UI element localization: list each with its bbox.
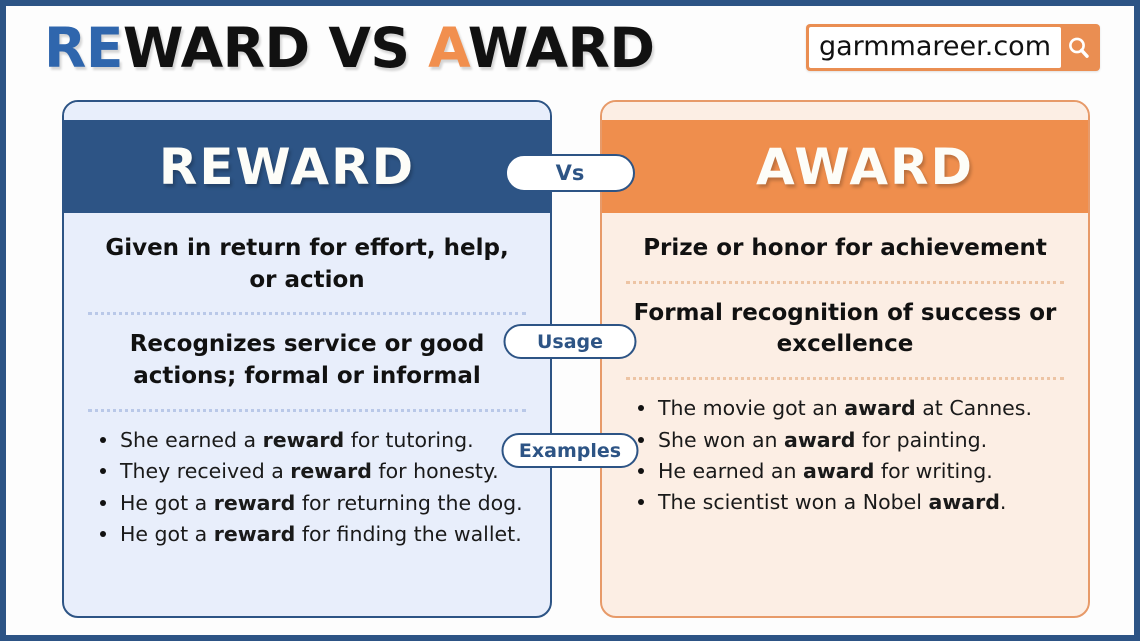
example-text-after: .	[1000, 490, 1007, 514]
page-title: REWARD VS AWARD	[44, 16, 655, 80]
list-item: The movie got an award at Cannes.	[636, 394, 1066, 423]
list-item: He got a reward for returning the dog.	[98, 489, 528, 518]
list-item: He earned an award for writing.	[636, 457, 1066, 486]
card-award-definition: Prize or honor for achievement	[620, 213, 1070, 281]
example-keyword: reward	[214, 522, 296, 546]
card-reward-header: REWARD	[64, 120, 550, 213]
card-reward-examples: She earned a reward for tutoring. They r…	[82, 412, 532, 549]
card-reward-top-strip	[64, 102, 550, 120]
example-text-before: She won an	[658, 428, 784, 452]
card-reward-definition: Given in return for effort, help, or act…	[82, 213, 532, 312]
example-keyword: award	[844, 396, 915, 420]
example-text-before: He got a	[120, 491, 214, 515]
example-keyword: reward	[214, 491, 296, 515]
page-header: REWARD VS AWARD garmmareer.com	[6, 6, 1134, 94]
example-text-after: for returning the dog.	[295, 491, 522, 515]
example-keyword: reward	[263, 428, 345, 452]
badge-vs: Vs	[505, 154, 635, 192]
badge-examples: Examples	[502, 433, 639, 468]
example-text-after: for honesty.	[372, 459, 499, 483]
example-text-before: He got a	[120, 522, 214, 546]
list-item: She earned a reward for tutoring.	[98, 426, 528, 455]
example-keyword: award	[928, 490, 999, 514]
example-text-before: They received a	[120, 459, 290, 483]
card-award-body: Prize or honor for achievement Formal re…	[602, 213, 1088, 517]
card-reward-title: REWARD	[159, 138, 455, 196]
title-part-black-1: WARD VS	[123, 16, 428, 80]
search-icon	[1061, 27, 1097, 68]
list-item: They received a reward for honesty.	[98, 457, 528, 486]
example-text-after: for painting.	[855, 428, 987, 452]
example-text-after: for writing.	[874, 459, 992, 483]
title-part-blue: RE	[44, 16, 123, 80]
infographic-page: REWARD VS AWARD garmmareer.com REWARD Gi…	[0, 0, 1140, 641]
example-text-before: She earned a	[120, 428, 263, 452]
card-reward-body: Given in return for effort, help, or act…	[64, 213, 550, 549]
card-award-title: AWARD	[716, 138, 974, 196]
badge-usage: Usage	[504, 324, 637, 359]
card-reward: REWARD Given in return for effort, help,…	[62, 100, 552, 618]
card-reward-usage: Recognizes service or good actions; form…	[82, 315, 532, 408]
example-text-before: The scientist won a Nobel	[658, 490, 928, 514]
example-text-before: He earned an	[658, 459, 803, 483]
example-text-after: for finding the wallet.	[295, 522, 521, 546]
card-award-header: AWARD	[602, 120, 1088, 213]
example-text-after: at Cannes.	[916, 396, 1032, 420]
card-award-examples: The movie got an award at Cannes. She wo…	[620, 380, 1070, 517]
example-keyword: award	[784, 428, 855, 452]
card-award: AWARD Prize or honor for achievement For…	[600, 100, 1090, 618]
example-keyword: award	[803, 459, 874, 483]
list-item: He got a reward for finding the wallet.	[98, 520, 528, 549]
site-logo-text: garmmareer.com	[809, 27, 1061, 68]
card-award-usage: Formal recognition of success or excelle…	[620, 284, 1070, 377]
example-keyword: reward	[290, 459, 372, 483]
card-award-top-strip	[602, 102, 1088, 120]
example-text-before: The movie got an	[658, 396, 844, 420]
list-item: She won an award for painting.	[636, 426, 1066, 455]
title-part-orange: A	[428, 16, 468, 80]
site-logo[interactable]: garmmareer.com	[806, 24, 1100, 71]
list-item: The scientist won a Nobel award.	[636, 488, 1066, 517]
title-part-black-2: WARD	[468, 16, 655, 80]
example-text-after: for tutoring.	[344, 428, 473, 452]
